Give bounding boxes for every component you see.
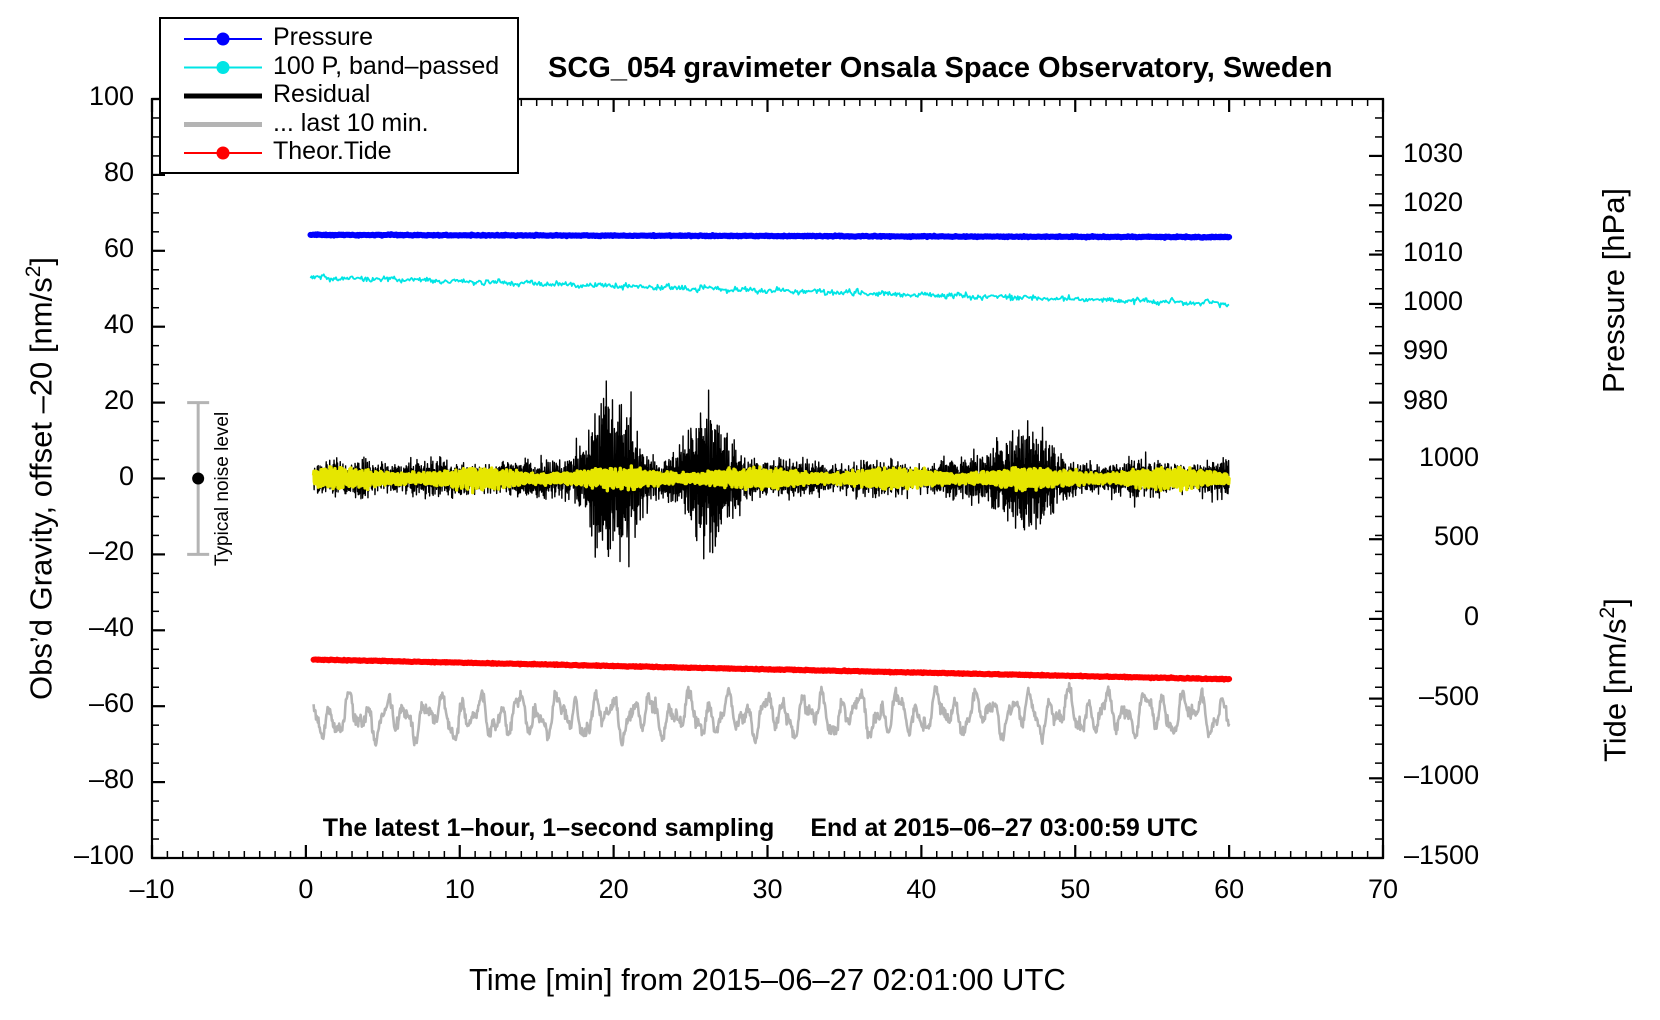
x-tick-label: 70 (1368, 874, 1398, 905)
x-tick-label: 30 (753, 874, 783, 905)
tide-tick-label: –1500 (1404, 840, 1479, 871)
legend-label-4: Theor.Tide (273, 137, 392, 166)
pressure-tick-label: 1000 (1403, 286, 1463, 317)
tide-tick-label: 500 (1434, 521, 1479, 552)
legend-marker-4 (217, 147, 230, 160)
y-tick-label-left: –80 (89, 764, 134, 795)
chart-canvas: –10010203040506070–100–80–60–40–20020406… (0, 0, 1660, 1020)
noise-level-label: Typical noise level (212, 411, 234, 565)
y-axis-title-left: Obs’d Gravity, offset –20 [nm/s2] (22, 257, 59, 700)
legend-label-1: 100 P, band–passed (273, 52, 499, 81)
legend-label-3: ... last 10 min. (273, 109, 429, 138)
x-tick-label: 10 (445, 874, 475, 905)
tide-tick-label: 0 (1464, 601, 1479, 632)
pressure-tick-label: 990 (1403, 335, 1448, 366)
pressure-tick-label: 980 (1403, 385, 1448, 416)
y-tick-label-left: 100 (89, 81, 134, 112)
y-tick-label-left: 40 (104, 309, 134, 340)
y-tick-label-left: –40 (89, 612, 134, 643)
y-tick-label-left: –100 (74, 840, 134, 871)
pressure-tick-label: 1030 (1403, 138, 1463, 169)
pressure-tick-label: 1020 (1403, 187, 1463, 218)
pressure-tick-label: 1010 (1403, 237, 1463, 268)
y-tick-label-left: –20 (89, 536, 134, 567)
x-tick-label: –10 (130, 874, 175, 905)
chart-title: SCG_054 gravimeter Onsala Space Observat… (548, 52, 1332, 85)
y-tick-label-left: 80 (104, 157, 134, 188)
tide-tick-label: –1000 (1404, 760, 1479, 791)
legend-marker-1 (217, 61, 230, 74)
tide-tick-label: 1000 (1419, 442, 1479, 473)
x-tick-label: 60 (1214, 874, 1244, 905)
y-tick-label-left: 20 (104, 385, 134, 416)
series--last-10-min- (314, 683, 1230, 745)
latest-sampling-note: The latest 1–hour, 1–second sampling (323, 814, 775, 843)
x-axis-title: Time [min] from 2015–06–27 02:01:00 UTC (469, 962, 1066, 998)
end-time-note: End at 2015–06–27 03:00:59 UTC (810, 814, 1198, 843)
y-axis-title-tide: Tide [nm/s2] (1596, 598, 1633, 762)
y-tick-label-left: –60 (89, 688, 134, 719)
y-tick-label-left: 60 (104, 233, 134, 264)
x-tick-label: 0 (298, 874, 313, 905)
legend-label-2: Residual (273, 80, 370, 109)
x-tick-label: 20 (599, 874, 629, 905)
y-axis-title-pressure: Pressure [hPa] (1596, 187, 1632, 392)
legend-marker-0 (217, 33, 230, 46)
series-100-p-band-passed (310, 274, 1229, 307)
x-tick-label: 50 (1060, 874, 1090, 905)
noise-bar-dot (192, 473, 204, 485)
series-pressure (310, 234, 1229, 238)
tide-tick-label: –500 (1419, 681, 1479, 712)
series-theor-tide (314, 659, 1230, 679)
x-tick-label: 40 (906, 874, 936, 905)
legend-label-0: Pressure (273, 23, 373, 52)
y-tick-label-left: 0 (119, 461, 134, 492)
